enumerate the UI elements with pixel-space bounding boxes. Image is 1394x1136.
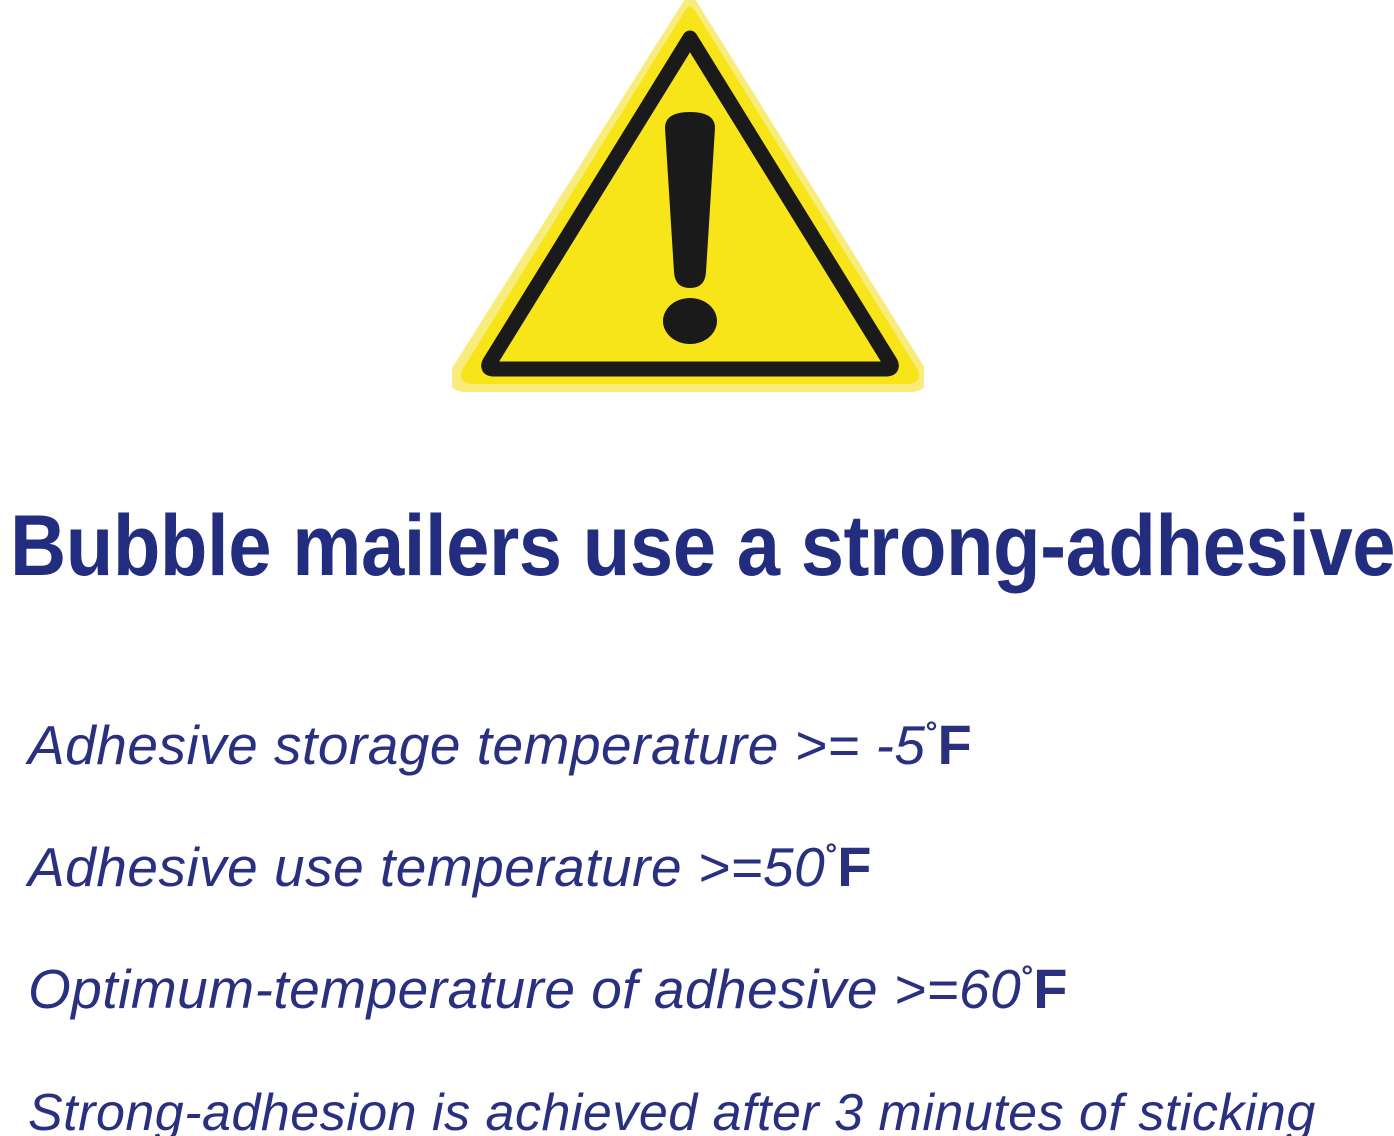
warning-exclamation-triangle-icon (452, 0, 924, 400)
list-item-optimum-temperature: Optimum-temperature of adhesive >=60°F (28, 916, 1388, 1038)
product-infographic-page: Bubble mailers use a strong-adhesive Adh… (0, 0, 1394, 1136)
exclamation-dot (663, 298, 717, 344)
degree-symbol-3: ° (1021, 960, 1033, 993)
list-item-strong-adhesion-time: Strong-adhesion is achieved after 3 minu… (28, 1038, 1388, 1136)
unit-fahrenheit-3: F (1033, 957, 1067, 1020)
spec-text-use-temperature: Adhesive use temperature >=50 (28, 836, 825, 898)
specification-list: Adhesive storage temperature >= -5°F Adh… (28, 672, 1388, 1136)
page-title: Bubble mailers use a strong-adhesive (10, 498, 1259, 594)
degree-symbol-2: ° (825, 838, 837, 871)
spec-text-storage-temperature: Adhesive storage temperature >= -5 (28, 714, 926, 776)
list-item-adhesive-storage-temperature: Adhesive storage temperature >= -5°F (28, 672, 1388, 794)
unit-fahrenheit-2: F (837, 835, 871, 898)
unit-fahrenheit-1: F (938, 713, 972, 776)
list-item-adhesive-use-temperature: Adhesive use temperature >=50°F (28, 794, 1388, 916)
degree-symbol-1: ° (926, 716, 938, 749)
spec-text-optimum-temperature: Optimum-temperature of adhesive >=60 (28, 958, 1021, 1020)
spec-text-adhesion-time: Strong-adhesion is achieved after 3 minu… (28, 1084, 1316, 1136)
warning-triangle-svg (452, 0, 924, 400)
